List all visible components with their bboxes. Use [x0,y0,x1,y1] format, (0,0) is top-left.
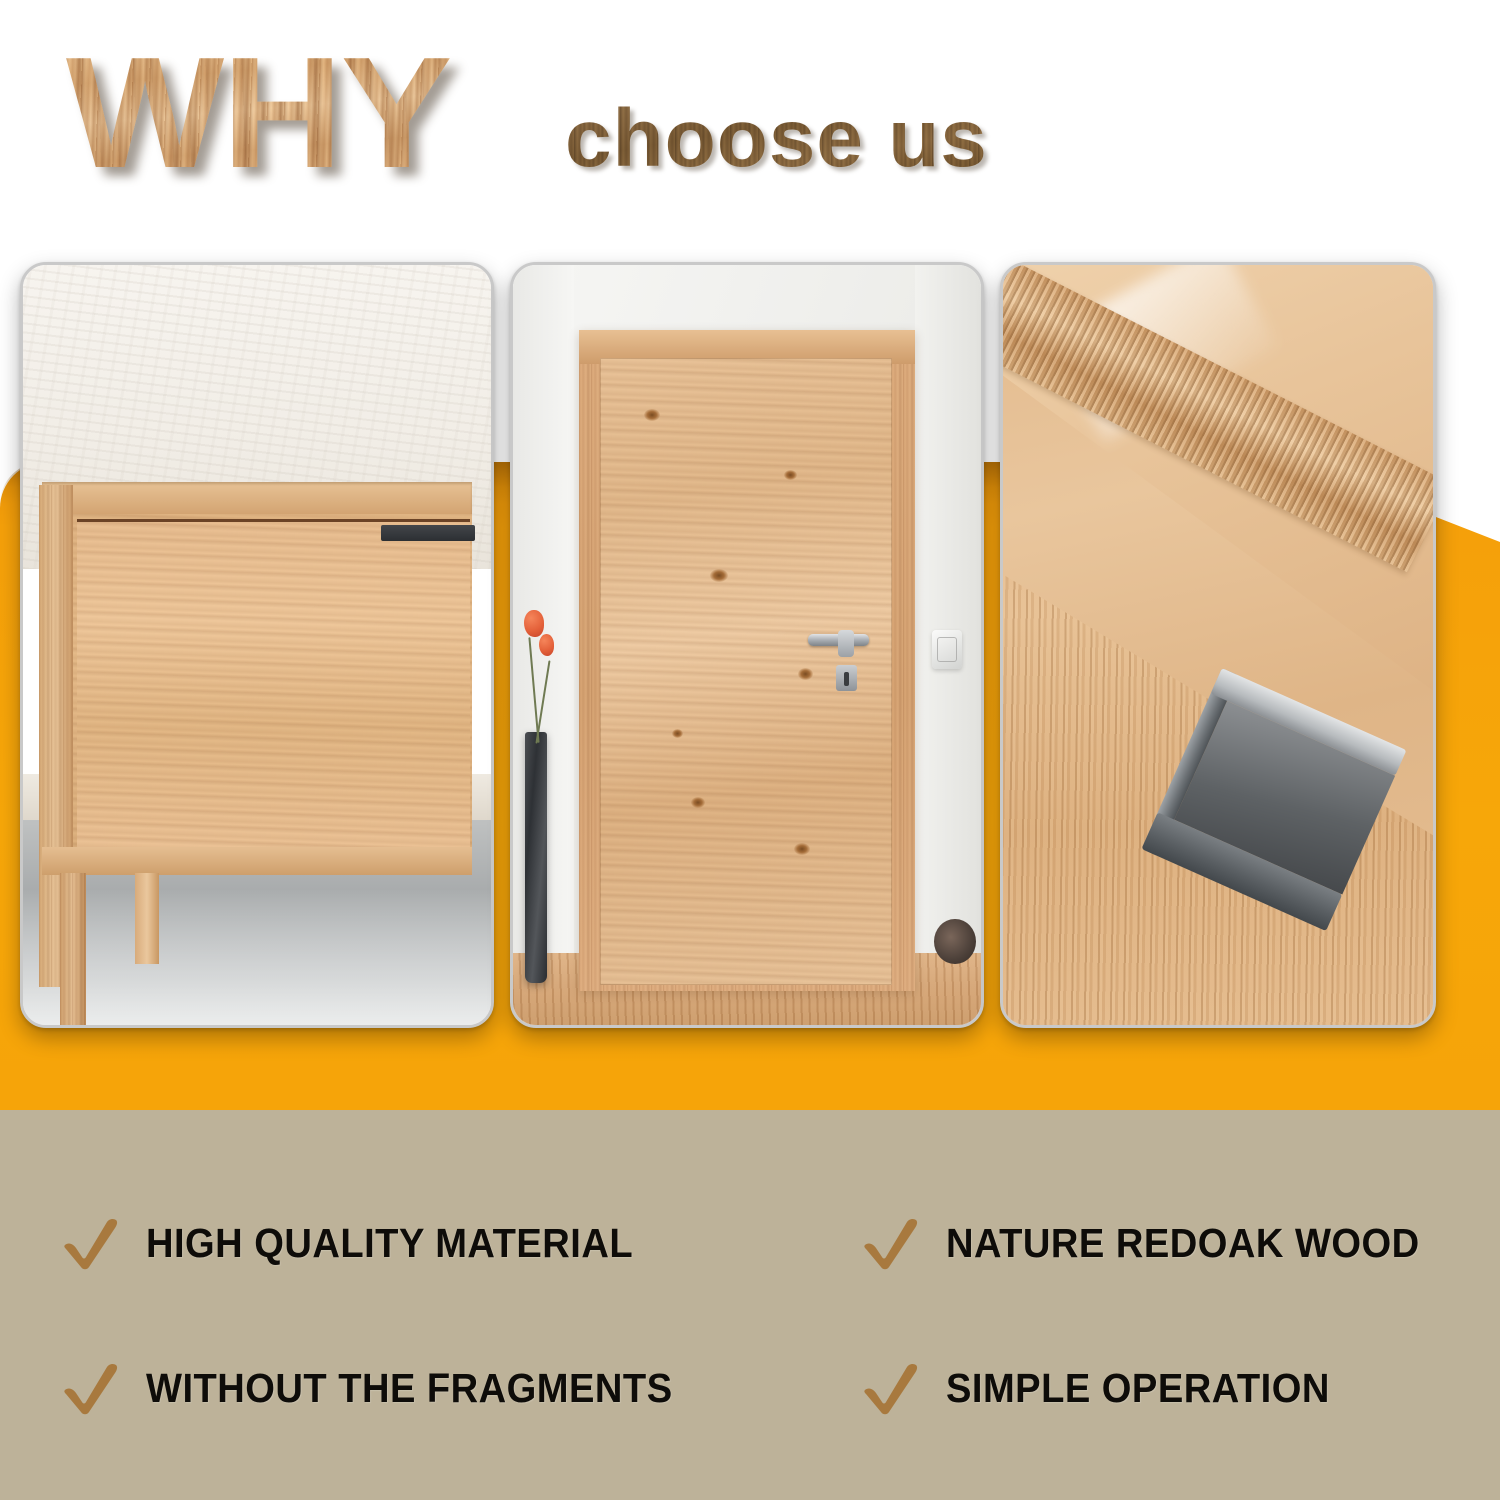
poppy-flower [539,634,554,655]
cabinet-top-rail [42,482,473,514]
wood-knot [710,569,728,582]
feature-item-simple-operation: SIMPLE OPERATION [862,1360,1359,1416]
wood-knot [672,729,683,738]
poppy-flower [524,610,544,637]
cabinet-door-panel [77,519,470,853]
gallery-card-veneer-macro[interactable] [1000,262,1436,1028]
header: WHY choose us [0,0,1500,230]
wood-knot [794,843,810,855]
gallery-card-sideboard[interactable] [20,262,494,1028]
cabinet-leg-left [60,873,85,1025]
check-icon [62,1360,120,1416]
feature-label: NATURE REDOAK WOOD [946,1220,1420,1267]
feature-list: HIGH QUALITY MATERIAL NATURE REDOAK WOOD… [0,1110,1500,1500]
check-icon [862,1215,920,1271]
cabinet-bottom-shelf [42,847,473,874]
door-keyhole [844,672,849,686]
wood-knot [691,797,705,808]
feature-item-nature-redoak-wood: NATURE REDOAK WOOD [862,1215,1455,1271]
floor-reflection [23,888,491,1025]
infographic-canvas: WHY choose us [0,0,1500,1500]
feature-item-without-the-fragments: WITHOUT THE FRAGMENTS [62,1360,712,1416]
page-title-secondary: choose us [565,98,988,180]
veneer-edge-macro-photo [1003,265,1433,1025]
door-grain [77,522,470,853]
floor-vase [525,732,547,983]
feature-label: WITHOUT THE FRAGMENTS [146,1365,673,1412]
sideboard-cabinet-photo [23,265,491,1025]
feature-label: SIMPLE OPERATION [946,1365,1330,1412]
leg-grain [60,873,85,1025]
light-switch-rocker [937,637,956,663]
cabinet-bar-handle [381,525,475,541]
check-icon [862,1360,920,1416]
door-handle-rose [838,630,854,657]
gallery-card-oak-door[interactable] [510,262,984,1028]
oak-interior-door-photo [513,265,981,1025]
feature-item-high-quality-material: HIGH QUALITY MATERIAL [62,1215,670,1271]
feature-label: HIGH QUALITY MATERIAL [146,1220,633,1267]
check-icon [62,1215,120,1271]
page-title-primary: WHY [66,38,450,188]
cabinet-leg-mid [135,873,158,964]
